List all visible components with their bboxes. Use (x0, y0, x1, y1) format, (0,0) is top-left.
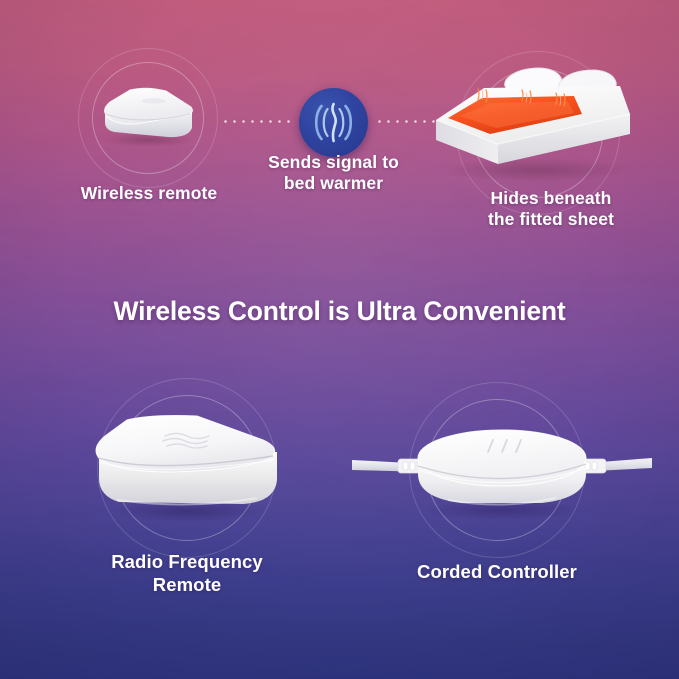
radio-frequency-remote-icon (93, 412, 283, 524)
connector-remote-to-signal (221, 120, 293, 123)
page-headline: Wireless Control is Ultra Convenient (0, 296, 679, 327)
caption-corded-controller: Corded Controller (382, 561, 612, 584)
signal-heat-waves-icon (299, 88, 368, 157)
wireless-remote-icon (96, 84, 199, 146)
caption-wireless-remote: Wireless remote (38, 183, 260, 204)
corded-controller-icon (352, 418, 652, 522)
mattress-with-heating-pad-icon (424, 58, 648, 186)
caption-signal: Sends signal to bed warmer (243, 152, 424, 195)
caption-radio-frequency-remote: Radio Frequency Remote (62, 551, 312, 596)
infographic-poster: Wireless remote Sends signal to bed warm… (0, 0, 679, 679)
caption-bed-warmer: Hides beneath the fitted sheet (440, 188, 662, 231)
